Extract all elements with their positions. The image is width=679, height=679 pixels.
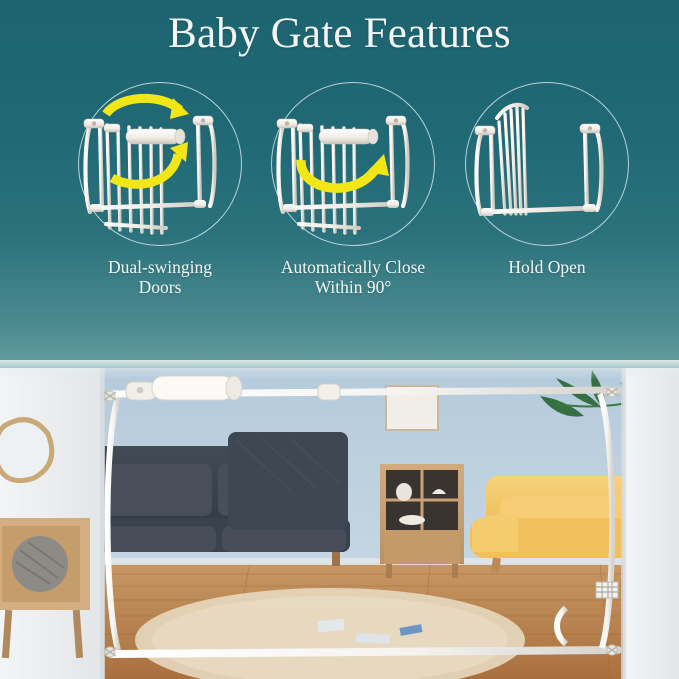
feature-item-hold-open[interactable]: Hold Open — [447, 78, 647, 308]
page-title: Baby Gate Features — [0, 8, 679, 60]
feature-item-dual-swinging-doors[interactable]: Dual-swinging Doors — [60, 78, 260, 308]
gate-hold-open-icon — [447, 78, 647, 258]
feature-label: Automatically Close Within 90° — [253, 258, 453, 297]
dark-sofa — [84, 432, 350, 566]
feature-label-line2: Doors — [60, 278, 260, 298]
lifestyle-photo — [0, 368, 679, 679]
swing-arrow-top — [106, 98, 189, 119]
feature-item-automatically-close[interactable]: Automatically Close Within 90° — [253, 78, 453, 308]
feature-row: Dual-swinging Doors — [0, 78, 679, 308]
gate-auto-close-icon — [253, 78, 453, 258]
gate-dual-swing-icon — [60, 78, 260, 258]
feature-label-line1: Hold Open — [447, 258, 647, 278]
feature-label-line1: Automatically Close — [253, 258, 453, 278]
product-feature-image: Baby Gate Features — [0, 0, 679, 679]
feature-label: Hold Open — [447, 258, 647, 278]
wall-mirror — [0, 420, 52, 481]
feature-label: Dual-swinging Doors — [60, 258, 260, 297]
feature-label-line1: Dual-swinging — [60, 258, 260, 278]
feature-label-line2: Within 90° — [253, 278, 453, 298]
shelf-unit — [380, 464, 464, 578]
